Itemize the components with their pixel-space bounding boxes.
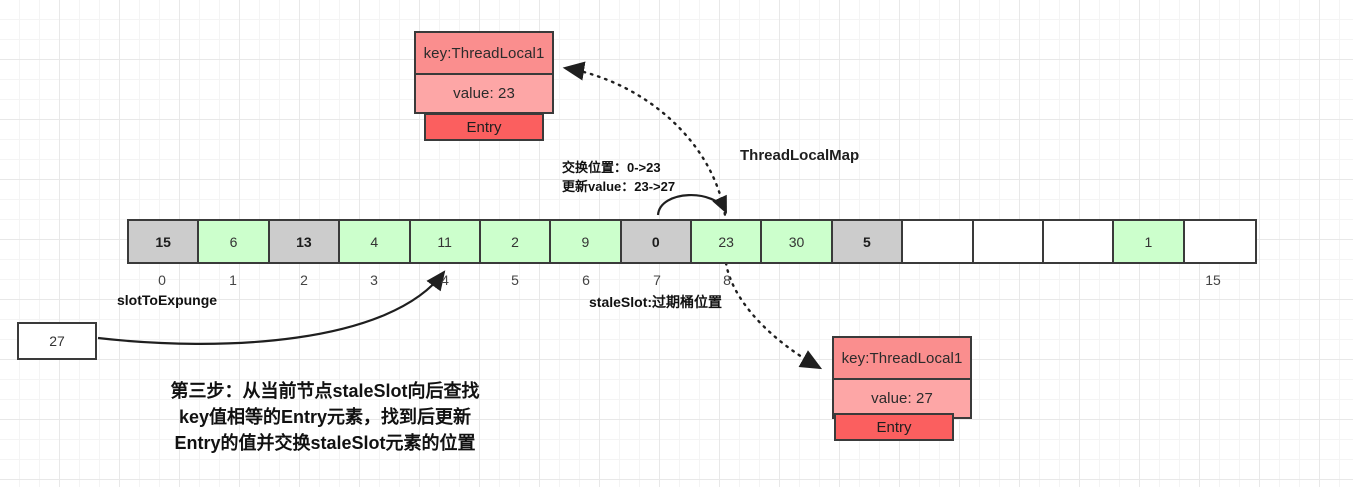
new-value-box: 27	[17, 322, 97, 360]
array-index-label: 5	[511, 272, 519, 288]
step-caption: 第三步：从当前节点staleSlot向后查找 key值相等的Entry元素，找到…	[115, 378, 535, 456]
array-index-label: 15	[1205, 272, 1221, 288]
entry-bottom-key: key:ThreadLocal1	[832, 336, 972, 378]
array-cell: 11	[411, 221, 481, 262]
array-index-label: 6	[582, 272, 590, 288]
entry-top-title: Entry	[424, 113, 544, 141]
array-cell: 4	[340, 221, 410, 262]
array-index-label: 2	[300, 272, 308, 288]
swap-arrow-slot7-to-slot8	[658, 195, 726, 215]
array-cell: 0	[622, 221, 692, 262]
threadlocalmap-array: 15613411290233051	[127, 219, 1257, 264]
array-cell	[1185, 221, 1255, 262]
array-index-label: 3	[370, 272, 378, 288]
array-cell: 1	[1114, 221, 1184, 262]
array-index-label: 8	[723, 272, 731, 288]
array-cell: 5	[833, 221, 903, 262]
array-cell: 2	[481, 221, 551, 262]
array-cells-container: 15613411290233051	[127, 219, 1257, 264]
stale-slot-label: staleSlot:过期桶位置	[589, 292, 722, 312]
array-index-label: 4	[441, 272, 449, 288]
entry-box-top: key:ThreadLocal1 value: 23	[414, 31, 554, 114]
threadlocalmap-label: ThreadLocalMap	[740, 147, 859, 164]
diagram-canvas: key:ThreadLocal1 value: 23 Entry key:Thr…	[0, 0, 1353, 487]
array-cell: 23	[692, 221, 762, 262]
array-index-label: 7	[653, 272, 661, 288]
array-cell	[903, 221, 973, 262]
array-cell: 15	[129, 221, 199, 262]
entry-box-bottom: key:ThreadLocal1 value: 27	[832, 336, 972, 419]
slot-to-expunge-label: slotToExpunge	[117, 292, 217, 308]
array-cell	[1044, 221, 1114, 262]
dotted-link-slot8-to-top-entry	[565, 68, 726, 222]
array-cell: 9	[551, 221, 621, 262]
entry-bottom-title: Entry	[834, 413, 954, 441]
swap-note-text: 交换位置：0->23 更新value：23->27	[562, 158, 712, 196]
dotted-link-slot8-to-bottom-entry	[726, 263, 820, 368]
entry-top-value: value: 23	[414, 73, 554, 114]
entry-top-key: key:ThreadLocal1	[414, 31, 554, 73]
array-cell: 13	[270, 221, 340, 262]
array-cell	[974, 221, 1044, 262]
array-cell: 6	[199, 221, 269, 262]
array-index-label: 1	[229, 272, 237, 288]
array-cell: 30	[762, 221, 832, 262]
array-index-label: 0	[158, 272, 166, 288]
